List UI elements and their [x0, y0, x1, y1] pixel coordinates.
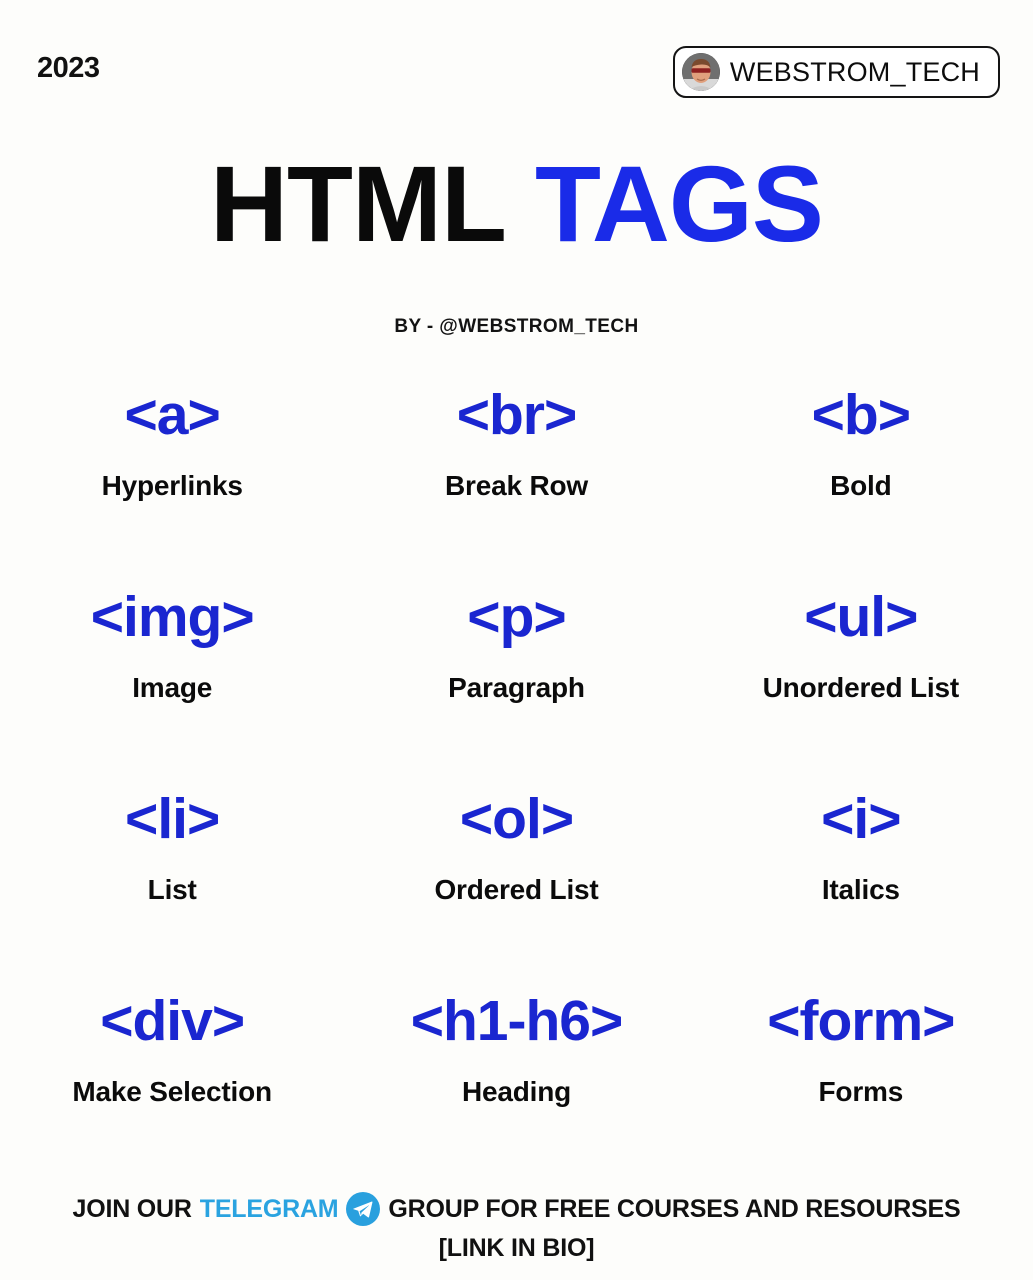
tag-cell: <i> Italics	[689, 789, 1033, 991]
footer-line-2: [LINK IN BIO]	[0, 1234, 1033, 1263]
tag-label: Make Selection	[72, 1076, 272, 1108]
tag-code: <br>	[457, 387, 577, 444]
tag-code: <p>	[467, 589, 565, 646]
tag-label: Ordered List	[434, 874, 598, 906]
tag-cell: <br> Break Row	[344, 385, 688, 587]
tag-label: Heading	[462, 1076, 571, 1108]
tag-code: <img>	[91, 589, 254, 646]
footer: JOIN OUR TELEGRAM GROUP FOR FREE COURSES…	[0, 1192, 1033, 1263]
tag-label: List	[148, 874, 197, 906]
page-title: HTML TAGS	[0, 150, 1033, 258]
footer-post-text: GROUP FOR FREE COURSES AND RESOURSES	[388, 1195, 960, 1224]
tag-label: Italics	[822, 874, 900, 906]
tag-cell: <form> Forms	[689, 991, 1033, 1193]
telegram-icon[interactable]	[346, 1192, 380, 1226]
tag-label: Bold	[830, 470, 891, 502]
footer-pre-text: JOIN OUR	[73, 1195, 192, 1224]
avatar-photo-icon	[682, 53, 720, 91]
tag-cell: <p> Paragraph	[344, 587, 688, 789]
year-label: 2023	[37, 52, 100, 85]
tag-cell: <img> Image	[0, 587, 344, 789]
tag-code: <h1-h6>	[411, 993, 623, 1050]
telegram-word[interactable]: TELEGRAM	[200, 1195, 339, 1224]
footer-line-1: JOIN OUR TELEGRAM GROUP FOR FREE COURSES…	[0, 1192, 1033, 1226]
html-tags-infographic: 2023	[0, 0, 1033, 1280]
tag-code: <a>	[125, 387, 220, 444]
tag-cell: <b> Bold	[689, 385, 1033, 587]
account-handle-badge[interactable]: WEBSTROM_TECH	[673, 46, 1000, 98]
tag-code: <form>	[767, 993, 954, 1050]
tag-code: <div>	[100, 993, 244, 1050]
tag-code: <b>	[812, 387, 910, 444]
byline: BY - @WEBSTROM_TECH	[0, 316, 1033, 338]
tag-label: Image	[132, 672, 212, 704]
tag-label: Break Row	[445, 470, 588, 502]
tag-cell: <ul> Unordered List	[689, 587, 1033, 789]
tag-code: <ul>	[804, 589, 917, 646]
tag-cell: <ol> Ordered List	[344, 789, 688, 991]
title-part-html: HTML	[210, 143, 506, 264]
tag-cell: <div> Make Selection	[0, 991, 344, 1193]
tag-label: Hyperlinks	[102, 470, 243, 502]
tag-code: <li>	[125, 791, 219, 848]
tag-cell: <a> Hyperlinks	[0, 385, 344, 587]
tag-label: Forms	[819, 1076, 904, 1108]
tag-cell: <li> List	[0, 789, 344, 991]
tag-label: Unordered List	[763, 672, 959, 704]
header-bar: 2023	[0, 46, 1033, 102]
tag-code: <ol>	[460, 791, 573, 848]
account-handle-text: WEBSTROM_TECH	[730, 57, 980, 88]
title-part-tags: TAGS	[535, 143, 823, 264]
tag-grid: <a> Hyperlinks <br> Break Row <b> Bold <…	[0, 385, 1033, 1193]
tag-code: <i>	[821, 791, 900, 848]
tag-label: Paragraph	[448, 672, 585, 704]
tag-cell: <h1-h6> Heading	[344, 991, 688, 1193]
